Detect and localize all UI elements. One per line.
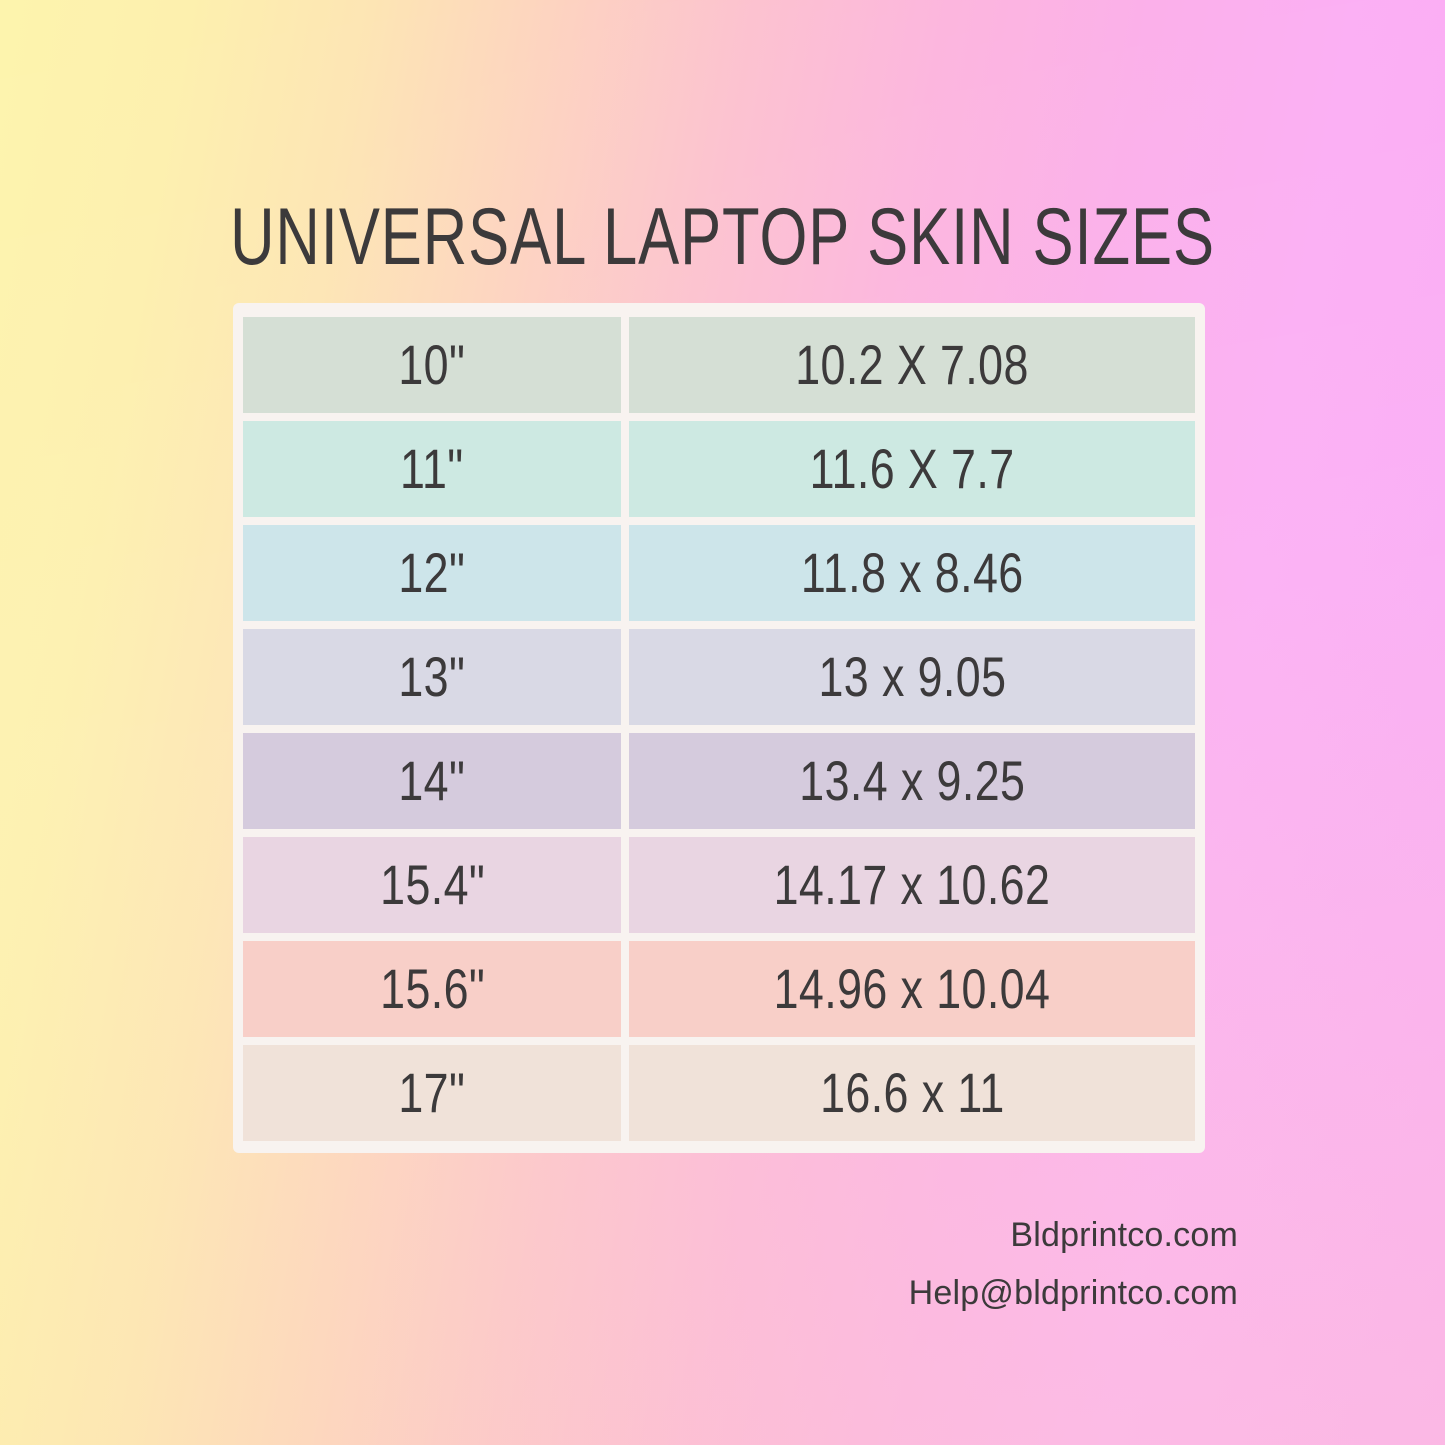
size-label: 15.6"	[380, 961, 485, 1017]
footer: Bldprintco.com Help@bldprintco.com	[909, 1206, 1238, 1322]
size-cell: 11"	[243, 421, 621, 517]
size-label: 17"	[399, 1065, 466, 1121]
size-cell: 10"	[243, 317, 621, 413]
dimensions-cell: 14.17 x 10.62	[629, 837, 1195, 933]
dimensions-label: 16.6 x 11	[820, 1065, 1005, 1121]
dimensions-label: 11.6 X 7.7	[810, 441, 1015, 497]
size-label: 13"	[399, 649, 466, 705]
dimensions-label: 10.2 X 7.08	[795, 337, 1029, 393]
size-cell: 14"	[243, 733, 621, 829]
table-row: 12"11.8 x 8.46	[243, 525, 1195, 621]
table-row: 15.4"14.17 x 10.62	[243, 837, 1195, 933]
size-cell: 15.4"	[243, 837, 621, 933]
size-label: 15.4"	[380, 857, 485, 913]
table-row: 15.6"14.96 x 10.04	[243, 941, 1195, 1037]
size-cell: 13"	[243, 629, 621, 725]
footer-website[interactable]: Bldprintco.com	[909, 1206, 1238, 1264]
table-row: 10"10.2 X 7.08	[243, 317, 1195, 413]
page-title: Universal Laptop Skin Sizes	[173, 191, 1271, 283]
dimensions-label: 14.17 x 10.62	[774, 857, 1051, 913]
dimensions-cell: 14.96 x 10.04	[629, 941, 1195, 1037]
size-label: 10"	[399, 337, 466, 393]
size-cell: 17"	[243, 1045, 621, 1141]
footer-email[interactable]: Help@bldprintco.com	[909, 1264, 1238, 1322]
size-cell: 12"	[243, 525, 621, 621]
poster: Universal Laptop Skin Sizes 10"10.2 X 7.…	[0, 0, 1445, 1445]
dimensions-label: 11.8 x 8.46	[801, 545, 1024, 601]
size-label: 14"	[399, 753, 466, 809]
size-label: 12"	[399, 545, 466, 601]
dimensions-cell: 10.2 X 7.08	[629, 317, 1195, 413]
dimensions-cell: 13 x 9.05	[629, 629, 1195, 725]
table-row: 13"13 x 9.05	[243, 629, 1195, 725]
table-row: 17"16.6 x 11	[243, 1045, 1195, 1141]
table-row: 11"11.6 X 7.7	[243, 421, 1195, 517]
size-cell: 15.6"	[243, 941, 621, 1037]
dimensions-cell: 13.4 x 9.25	[629, 733, 1195, 829]
size-label: 11"	[400, 441, 464, 497]
dimensions-label: 14.96 x 10.04	[774, 961, 1051, 1017]
size-table: 10"10.2 X 7.0811"11.6 X 7.712"11.8 x 8.4…	[233, 303, 1205, 1153]
dimensions-label: 13.4 x 9.25	[799, 753, 1025, 809]
dimensions-label: 13 x 9.05	[818, 649, 1006, 705]
dimensions-cell: 11.6 X 7.7	[629, 421, 1195, 517]
dimensions-cell: 11.8 x 8.46	[629, 525, 1195, 621]
table-row: 14"13.4 x 9.25	[243, 733, 1195, 829]
dimensions-cell: 16.6 x 11	[629, 1045, 1195, 1141]
